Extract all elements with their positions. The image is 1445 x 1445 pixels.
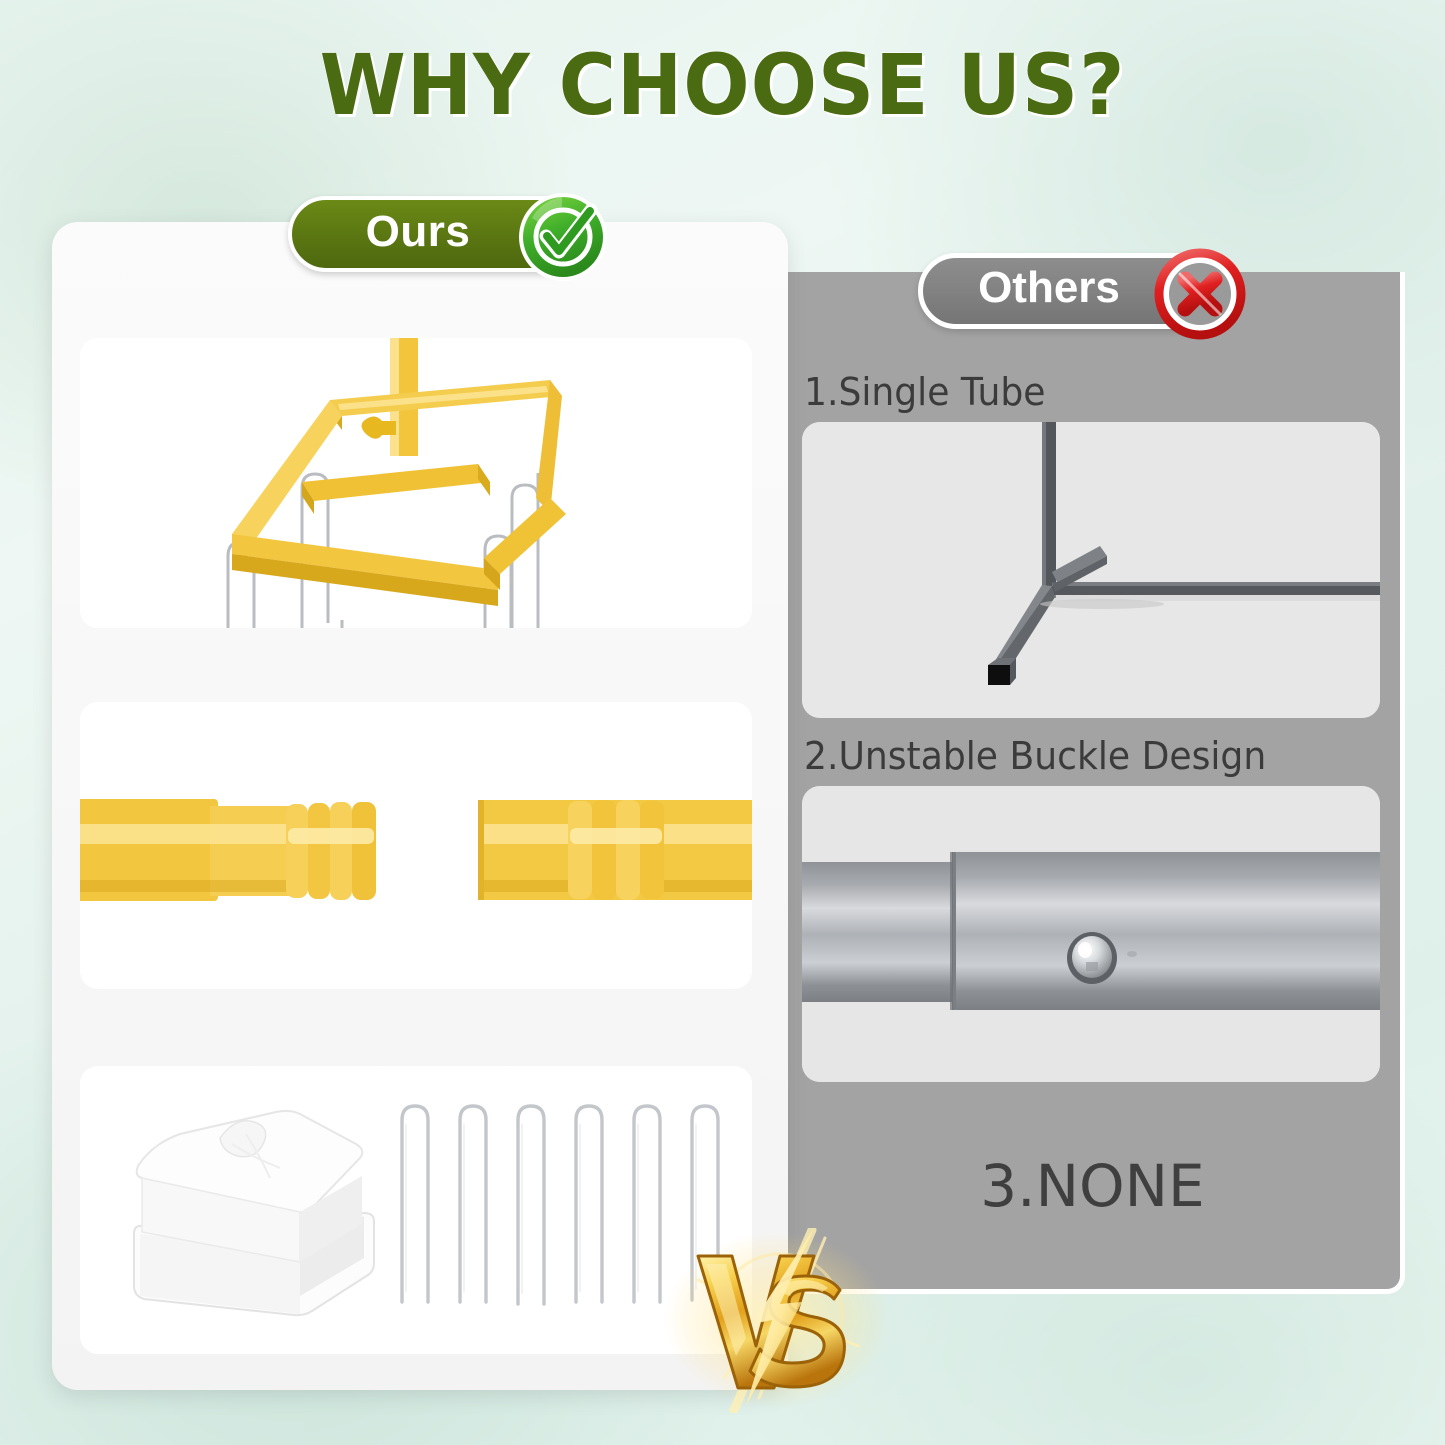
red-cross-circle-icon bbox=[1154, 248, 1246, 340]
gray-tube-spring-button-buckle-photo bbox=[802, 786, 1380, 1082]
others-feature-3-label: 3.NONE bbox=[800, 1152, 1385, 1220]
others-feature-1-label: 1.Single Tube bbox=[804, 370, 1045, 414]
green-check-circle-icon bbox=[518, 192, 608, 282]
gray-single-tube-tripod-foot-photo bbox=[802, 422, 1380, 718]
gold-vs-lightning-icon bbox=[662, 1228, 892, 1413]
yellow-base-frame-with-ground-stakes-photo bbox=[80, 338, 752, 628]
others-feature-2-label: 2.Unstable Buckle Design bbox=[804, 734, 1266, 778]
page-title: WHY CHOOSE US? bbox=[51, 36, 1395, 134]
yellow-threaded-tube-joint-photo bbox=[80, 702, 752, 989]
white-sandbags-and-u-stakes-photo bbox=[80, 1066, 752, 1354]
infographic-canvas: WHY CHOOSE US? 1.Stable base bbox=[0, 0, 1445, 1445]
